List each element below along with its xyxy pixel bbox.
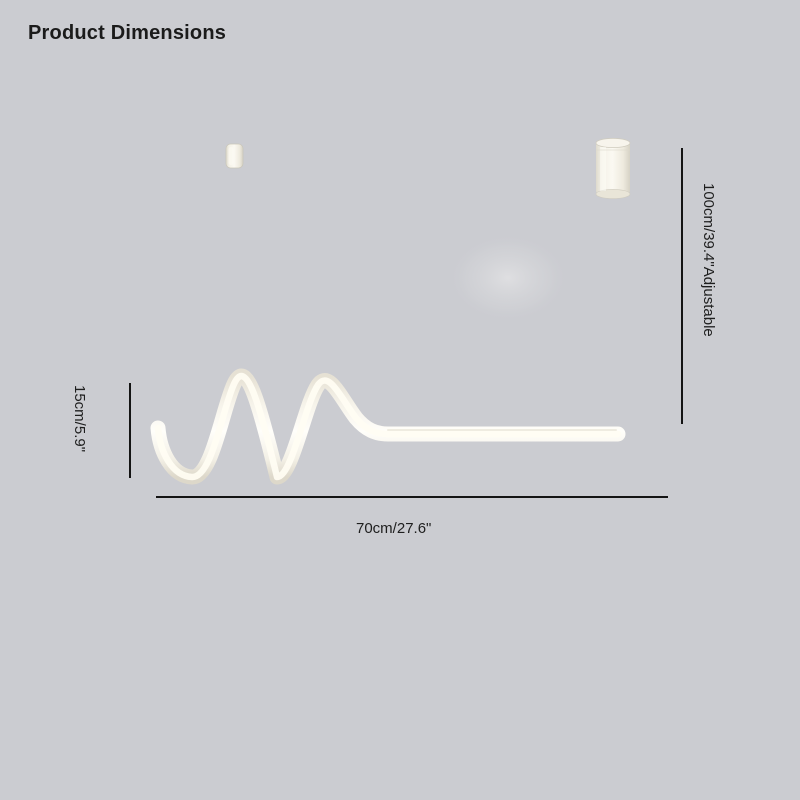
drop-dimension-label: 100cm/39.4"Adjustable	[700, 183, 717, 337]
product-dimension-diagram	[0, 0, 800, 800]
lamp-tube-body	[158, 376, 618, 477]
width-dimension-label: 70cm/27.6"	[356, 520, 431, 537]
product-dimensions-page: Product Dimensions	[0, 0, 800, 800]
left-canopy-icon	[226, 144, 243, 168]
background-haze	[448, 234, 568, 322]
height-dimension-label: 15cm/5.9"	[71, 385, 88, 452]
right-canopy-icon	[596, 138, 630, 198]
